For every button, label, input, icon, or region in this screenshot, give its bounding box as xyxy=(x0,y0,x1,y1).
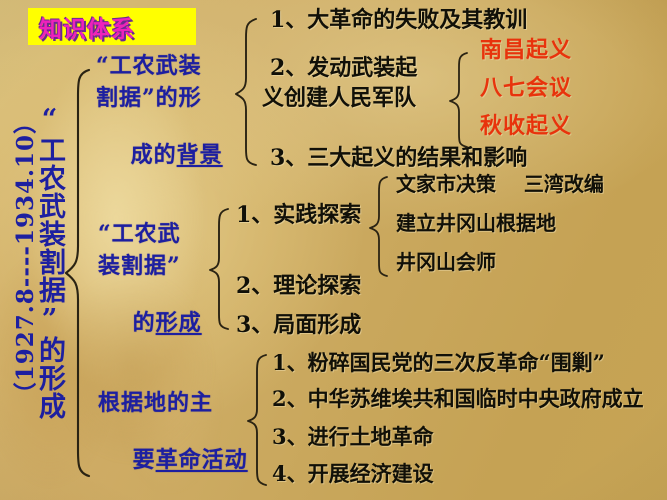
branch-label-base-keyword: 革命活动 xyxy=(156,447,248,473)
subitem-wenjiashi: 文家市决策 三湾改编 xyxy=(396,173,604,195)
branch-label-base-line2: 要革命活动 xyxy=(98,423,248,497)
subitem-jinggangshan-base: 建立井冈山根据地 xyxy=(396,212,556,234)
item-background-1: 1、大革命的失败及其教训 xyxy=(270,8,527,33)
branch-label-formation-line3: 的形成 xyxy=(98,286,202,360)
branch-label-formation-line2: 装割据” xyxy=(98,254,181,279)
red-event-autumn-harvest: 秋收起义 xyxy=(480,114,572,139)
item-base-4: 4、开展经济建设 xyxy=(272,462,434,486)
practice-exploration-brace xyxy=(366,174,392,280)
branch-label-background-line1: “工农武装 xyxy=(96,54,202,79)
slide-canvas: 知识体系 “工农武装割据”的形成 （1927.8----1934.10） “工农… xyxy=(0,0,667,500)
branch-label-background-line3: 成的背景 xyxy=(96,118,223,192)
item-formation-2: 2、理论探索 xyxy=(236,274,361,299)
branch-label-formation-keyword: 形成 xyxy=(156,310,202,336)
branch-label-base-line2-plain: 要 xyxy=(133,447,156,473)
item-background-2-line2: 义创建人民军队 xyxy=(262,86,416,111)
branch-label-formation-line3-plain: 的 xyxy=(133,310,156,336)
red-event-nanchang: 南昌起义 xyxy=(480,38,572,63)
item-base-2: 2、中华苏维埃共和国临时中央政府成立 xyxy=(272,387,644,411)
armed-uprisings-brace xyxy=(446,50,472,150)
vertical-date-range: （1927.8----1934.10） xyxy=(6,110,40,405)
item-base-3: 3、进行土地革命 xyxy=(272,425,434,449)
subitem-jinggangshan-meeting: 井冈山会师 xyxy=(396,251,496,273)
item-background-3: 3、三大起义的结果和影响 xyxy=(270,146,527,171)
red-event-bqi-meeting: 八七会议 xyxy=(480,76,572,101)
branch-label-background-line3-plain: 成的 xyxy=(131,142,177,168)
branch-label-background-keyword: 背景 xyxy=(177,142,223,168)
branch-label-base-line1: 根据地的主 xyxy=(98,391,213,416)
item-background-2-line1: 2、发动武装起 xyxy=(270,56,417,81)
item-formation-1: 1、实践探索 xyxy=(236,203,361,228)
title-chip: 知识体系 xyxy=(28,8,196,45)
item-formation-3: 3、局面形成 xyxy=(236,313,361,338)
branch-label-background-line2: 割据”的形 xyxy=(96,86,202,111)
page-title: 知识体系 xyxy=(39,10,135,44)
branch-label-formation-line1: “工农武 xyxy=(98,222,181,247)
item-base-1: 1、粉碎国民党的三次反革命“围剿” xyxy=(272,351,605,375)
